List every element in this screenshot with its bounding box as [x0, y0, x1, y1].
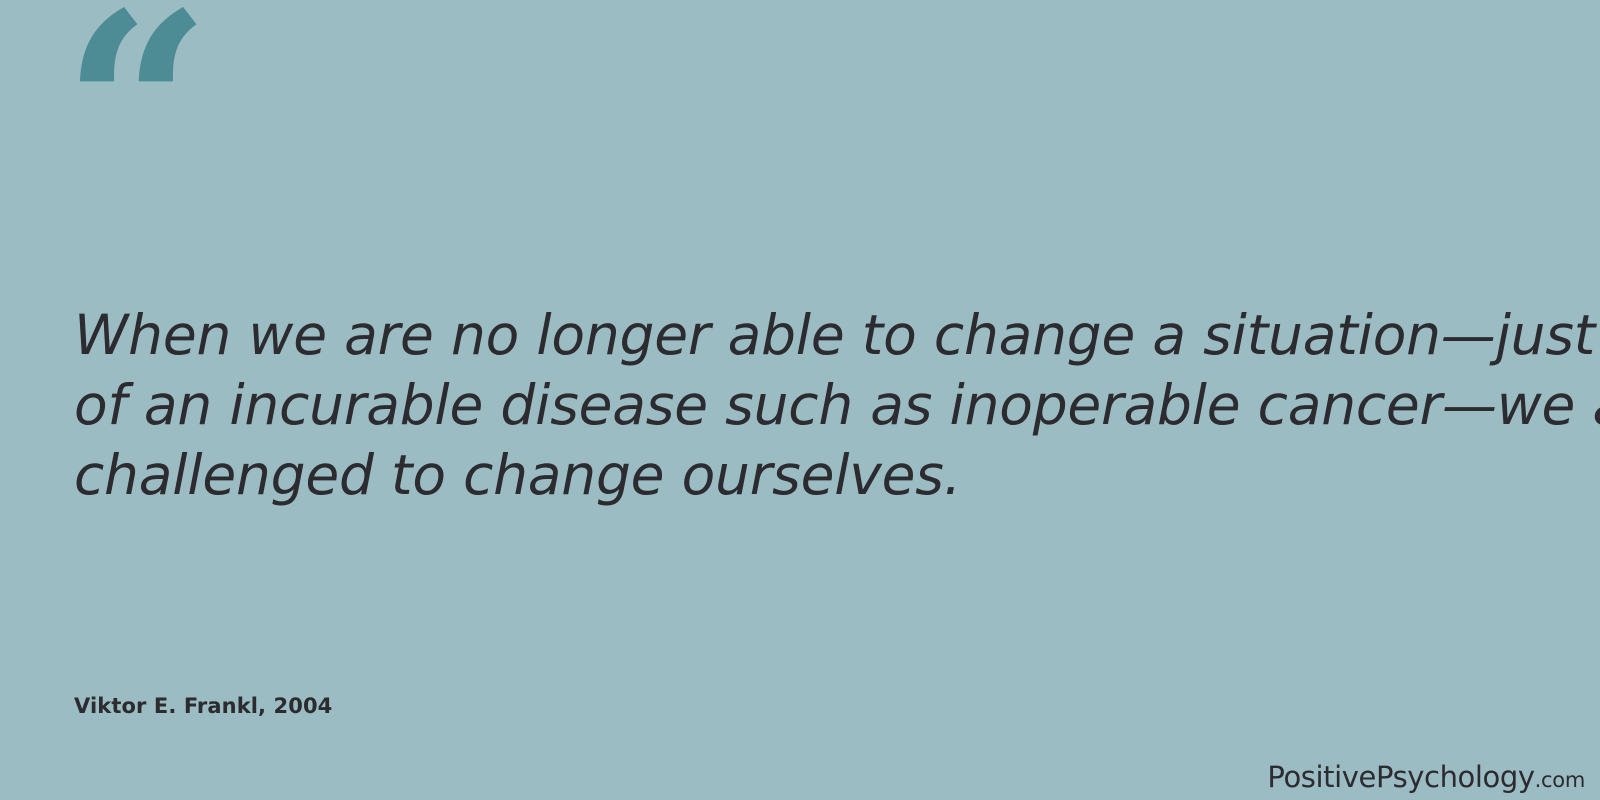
quote-card: “ When we are no longer able to change a… — [0, 0, 1600, 800]
quote-line: When we are no longer able to change a s… — [74, 300, 1474, 370]
brand-footer: PositivePsychology.com — [1267, 763, 1585, 792]
quote-line: challenged to change ourselves. — [74, 440, 1474, 510]
brand-name: PositivePsychology — [1267, 760, 1534, 794]
brand-tld: .com — [1535, 768, 1585, 792]
open-quote-icon: “ — [62, 0, 192, 180]
quote-attribution: Viktor E. Frankl, 2004 — [74, 694, 332, 718]
quote-line: of an incurable disease such as inoperab… — [74, 370, 1474, 440]
quote-text: When we are no longer able to change a s… — [74, 300, 1474, 510]
